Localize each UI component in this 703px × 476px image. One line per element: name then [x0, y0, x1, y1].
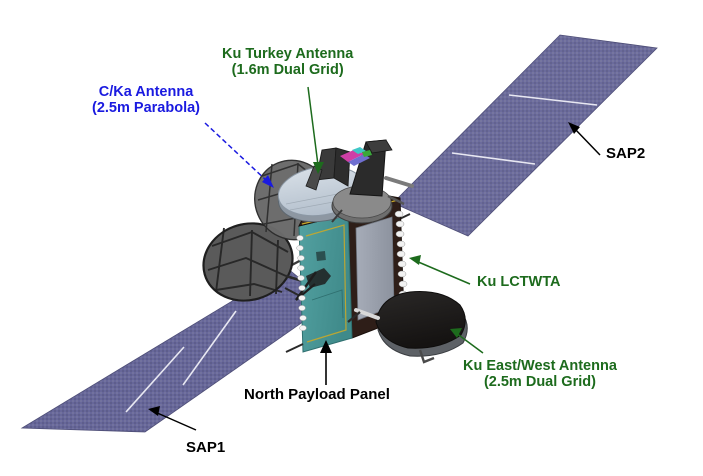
- solar-array-panel-2: [368, 35, 657, 236]
- label-ku-lctwta: Ku LCTWTA: [477, 274, 560, 290]
- label-sap2: SAP2: [606, 146, 645, 163]
- label-ku-turkey-antenna-line1: Ku Turkey Antenna: [222, 46, 353, 62]
- label-c-ka-antenna-line1: C/Ka Antenna: [99, 84, 194, 100]
- satellite-diagram: Ku Turkey Antenna (1.6m Dual Grid) C/Ka …: [0, 0, 703, 476]
- label-ku-turkey-antenna-line2: (1.6m Dual Grid): [222, 62, 353, 78]
- label-sap1-line1: SAP1: [186, 439, 225, 456]
- lower-boom: [286, 344, 303, 352]
- label-north-payload-panel: North Payload Panel: [244, 387, 390, 404]
- label-north-payload-panel-line1: North Payload Panel: [244, 386, 390, 403]
- label-c-ka-antenna-line2: (2.5m Parabola): [92, 100, 200, 116]
- label-c-ka-antenna: C/Ka Antenna (2.5m Parabola): [92, 84, 200, 116]
- solar-array-panel-1: [22, 258, 330, 432]
- label-ku-east-west-antenna: Ku East/West Antenna (2.5m Dual Grid): [463, 358, 617, 390]
- label-ku-east-west-antenna-line2: (2.5m Dual Grid): [463, 374, 617, 390]
- label-sap2-line1: SAP2: [606, 145, 645, 162]
- label-ku-turkey-antenna: Ku Turkey Antenna (1.6m Dual Grid): [222, 46, 353, 78]
- label-sap1: SAP1: [186, 440, 225, 457]
- label-ku-east-west-antenna-line1: Ku East/West Antenna: [463, 358, 617, 374]
- label-ku-lctwta-line1: Ku LCTWTA: [477, 274, 560, 290]
